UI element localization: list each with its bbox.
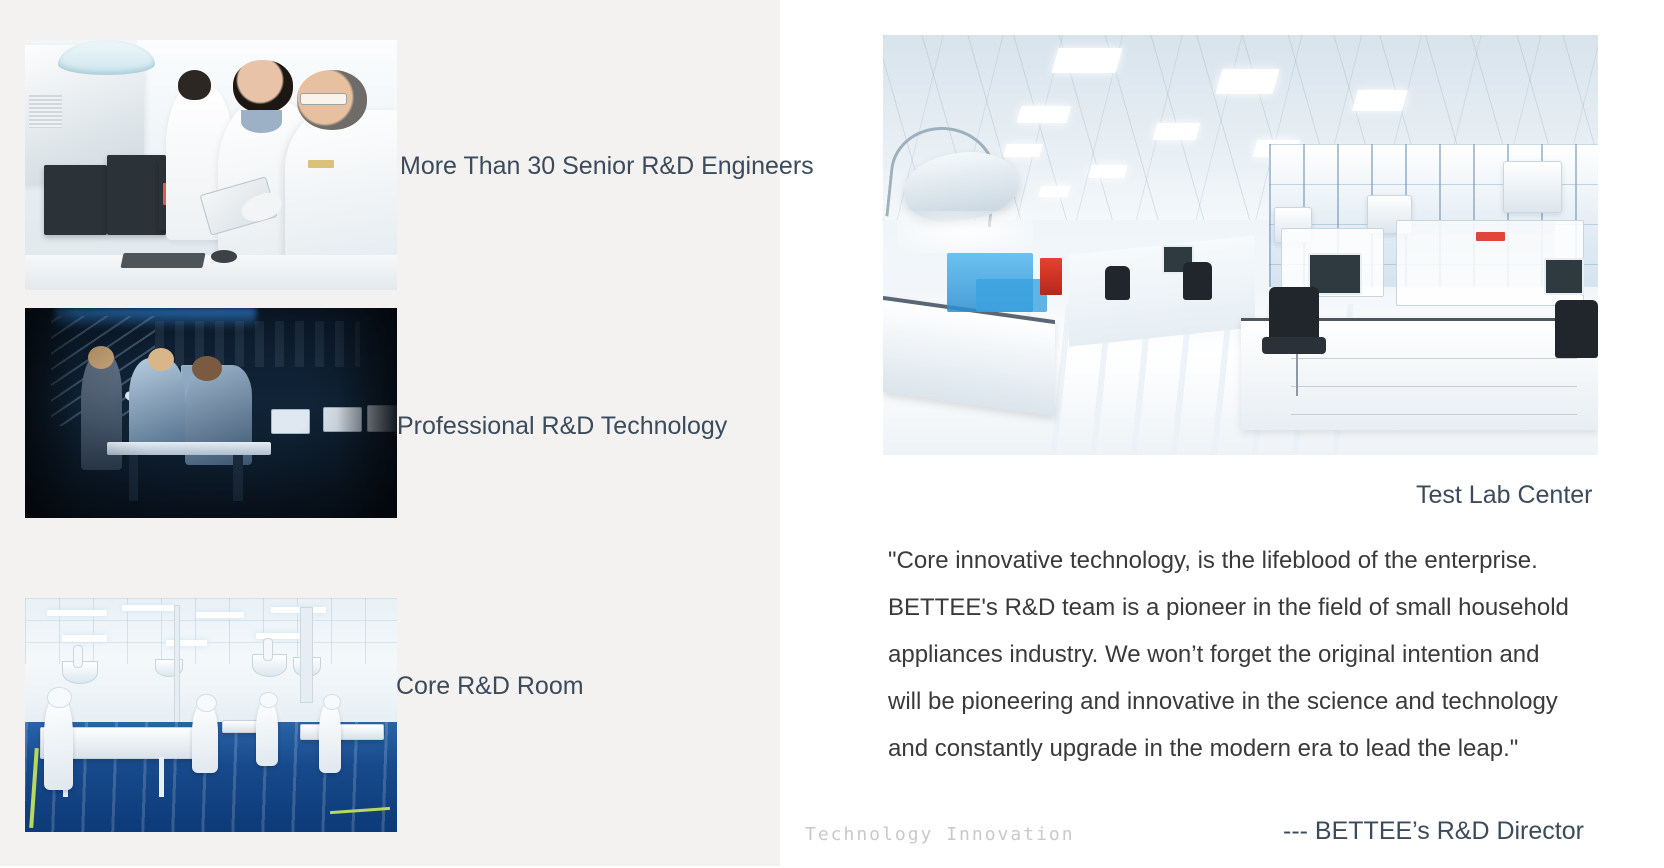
- person-collar: [241, 110, 282, 133]
- ceiling-light-panel: [1016, 106, 1071, 123]
- image-senior-rd-engineers: [25, 40, 397, 290]
- ceiling-light-panel: [1215, 69, 1279, 94]
- lab-chair: [1105, 266, 1130, 300]
- monitor: [1544, 258, 1584, 296]
- instrument-vent: [29, 95, 62, 128]
- chair-seat: [1262, 337, 1326, 354]
- ceiling-light: [47, 610, 107, 616]
- support-column: [300, 607, 313, 703]
- status-indicator: [1476, 232, 1505, 240]
- ceiling-light: [271, 607, 327, 613]
- person-cleanroom-suit: [192, 703, 218, 773]
- lab-equipment: [1503, 161, 1562, 213]
- image-test-lab-center: [883, 35, 1598, 455]
- person-cleanroom-suit: [319, 703, 341, 773]
- ceiling-light: [122, 605, 174, 611]
- person-head: [233, 60, 293, 113]
- quote-line: "Core innovative technology, is the life…: [888, 537, 1628, 584]
- ceiling-light: [62, 635, 107, 641]
- ceiling-light: [196, 612, 244, 618]
- hood-arm: [263, 638, 272, 661]
- desk-surface: [25, 255, 397, 290]
- caption-professional-rd-technology: Professional R&D Technology: [397, 412, 727, 441]
- caption-senior-rd-engineers: More Than 30 Senior R&D Engineers: [400, 152, 814, 181]
- quote-line: and constantly upgrade in the modern era…: [888, 725, 1628, 772]
- watermark-technology-innovation: Technology Innovation: [805, 824, 1075, 845]
- ceiling-light-panel: [1003, 144, 1042, 157]
- ceiling-light-panel: [1152, 123, 1200, 140]
- chair-post: [1296, 354, 1298, 396]
- person-hood-head: [47, 687, 71, 708]
- ceiling-light: [256, 633, 301, 639]
- person-cleanroom-suit: [44, 696, 74, 790]
- bench-drawers: [1291, 346, 1577, 422]
- quote-line: BETTEE's R&D team is a pioneer in the fi…: [888, 584, 1628, 631]
- lab-chair: [1183, 262, 1212, 300]
- fire-extinguisher: [1040, 258, 1061, 296]
- person-head: [178, 70, 211, 100]
- lamp-glow: [897, 211, 1033, 253]
- quote-block: "Core innovative technology, is the life…: [888, 537, 1628, 772]
- ceiling-light-panel: [1051, 48, 1123, 73]
- person-hood-head: [323, 694, 342, 710]
- ceiling-light-panel: [1089, 165, 1128, 178]
- monitor: [44, 165, 107, 235]
- mouse: [211, 250, 237, 263]
- caption-core-rd-room: Core R&D Room: [396, 672, 584, 701]
- keyboard: [120, 253, 205, 268]
- blue-liquid-container: [976, 279, 1048, 313]
- quote-line: will be pioneering and innovative in the…: [888, 678, 1628, 725]
- quote-line: appliances industry. We won’t forget the…: [888, 631, 1628, 678]
- lab-chair: [1269, 287, 1319, 342]
- cleanroom-bench: [300, 724, 384, 740]
- vignette: [25, 308, 397, 518]
- lab-chair: [1555, 300, 1598, 359]
- image-core-rd-room: [25, 598, 397, 832]
- person-lab-coat: [285, 110, 397, 260]
- image-professional-rd-technology: [25, 308, 397, 518]
- eyeglasses: [300, 93, 347, 105]
- caption-test-lab-center: Test Lab Center: [1416, 481, 1593, 510]
- name-badge: [308, 160, 334, 168]
- person-hood-head: [259, 692, 278, 708]
- ceiling-light-panel: [1352, 90, 1408, 111]
- slide-root: More Than 30 Senior R&D Engineers Profes…: [0, 0, 1664, 868]
- monitor: [107, 155, 167, 235]
- quote-author: --- BETTEE’s R&D Director: [1283, 817, 1584, 846]
- person-hood-head: [196, 694, 217, 712]
- hood-arm: [73, 645, 82, 668]
- ceiling-light: [166, 640, 207, 646]
- ceiling-light-panel: [1039, 186, 1071, 197]
- person-cleanroom-suit: [256, 701, 278, 767]
